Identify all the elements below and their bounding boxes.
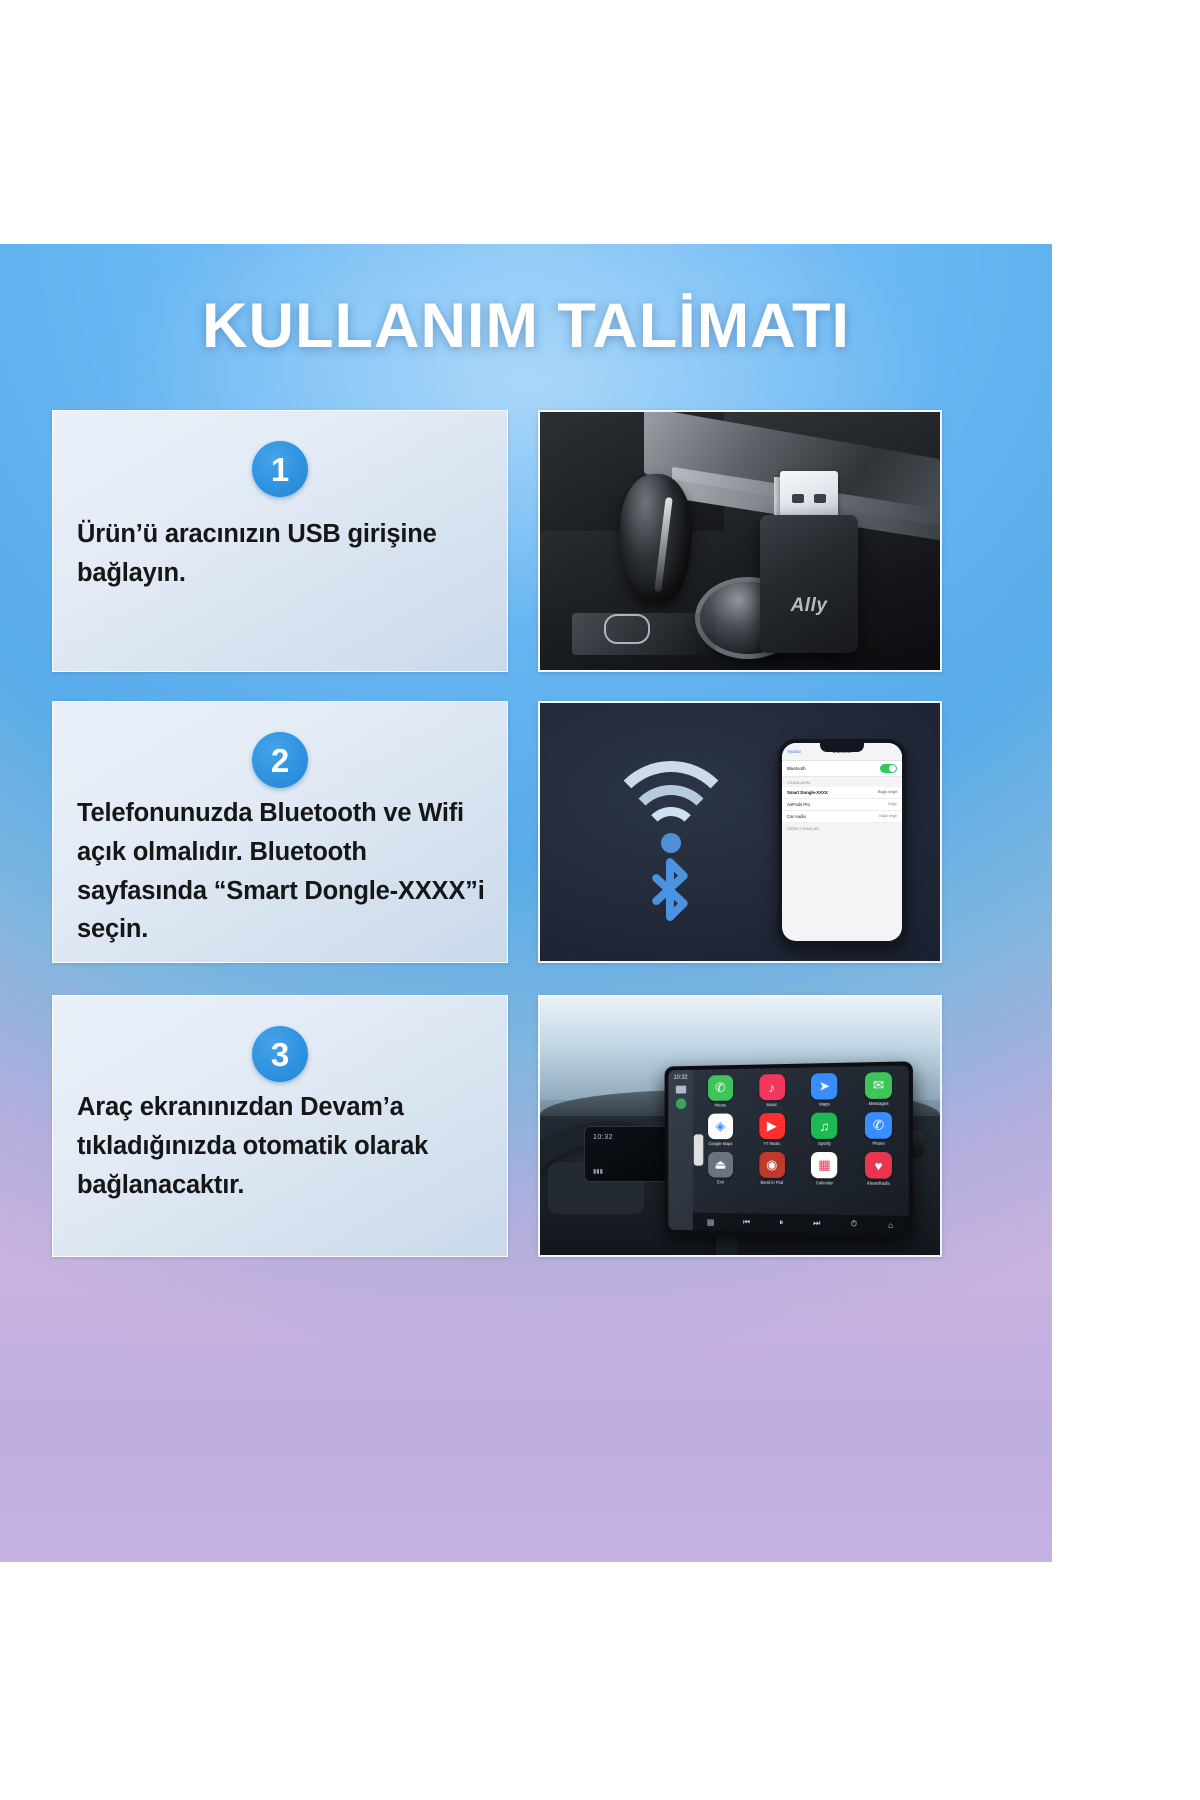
step-text-1: Ürün’ü aracınızın USB girişine bağlayın.	[77, 515, 489, 593]
dock-previous-icon[interactable]: ⏮	[743, 1217, 750, 1227]
device-status: Bağlı değil	[879, 814, 897, 819]
app-label: Google Maps	[708, 1141, 732, 1146]
maps-app-icon: ➤	[811, 1073, 837, 1100]
page-title: KULLANIM TALİMATI	[0, 290, 1052, 362]
carplay-app[interactable]: ✆ Phone	[699, 1075, 743, 1108]
carplay-row-3: ⏏ Exit ◉ Band-in Pod ▦ Calendar	[699, 1152, 903, 1186]
carplay-app[interactable]: ◈ Google Maps	[699, 1113, 743, 1146]
device-list-item[interactable]: Car Audio Bağlı değil	[782, 811, 902, 823]
phone-back-label: Ayarlar	[787, 749, 801, 754]
iheartradio-app-icon: ♥	[865, 1152, 892, 1179]
app-label: Band-in Pod	[760, 1180, 783, 1185]
dock-pause-icon[interactable]: ⏸	[779, 1218, 783, 1228]
dock-timer-icon[interactable]: ⏱	[851, 1219, 857, 1229]
phone-screen: Ayarlar Bluetooth Bluetooth CİHAZLARIM S…	[782, 743, 902, 941]
dongle-brand-label: Ally	[791, 595, 828, 617]
carplay-home-icon[interactable]	[675, 1098, 685, 1109]
spotify-app-icon: ♫	[811, 1113, 837, 1139]
messages-app-icon: ✉	[865, 1072, 892, 1099]
carplay-app[interactable]: ♥ iHeartRadio	[855, 1152, 903, 1186]
step-number-badge-1: 1	[252, 441, 308, 497]
device-status: Bağlı	[888, 802, 897, 807]
my-devices-label: CİHAZLARIM	[782, 777, 902, 787]
dock-list-icon[interactable]: ▤	[707, 1217, 714, 1226]
bluetooth-toggle-row[interactable]: Bluetooth	[782, 761, 902, 777]
step-number-badge-2: 2	[252, 732, 308, 788]
cluster-info: ▮▮▮	[593, 1168, 603, 1175]
parking-button-icon	[604, 614, 650, 644]
carplay-app[interactable]: ♫ Spotify	[801, 1113, 847, 1147]
carplay-sidebar: 10:32	[668, 1070, 692, 1230]
device-name: Smart Dongle-XXXX	[787, 790, 828, 795]
step-number-badge-3: 3	[252, 1026, 308, 1082]
carplay-back-arrow[interactable]	[694, 1134, 704, 1165]
other-devices-label: DİĞER CİHAZLAR	[782, 823, 902, 833]
calendar-app-icon: ▦	[811, 1152, 837, 1178]
carplay-display: 10:32 ✆ Phone ♪	[668, 1066, 908, 1235]
app-label: YT Music	[763, 1141, 780, 1146]
bluetooth-icon	[628, 853, 712, 949]
ally-dongle: Ally	[760, 515, 858, 653]
app-label: Phone	[872, 1141, 885, 1146]
app-label: Phone	[715, 1103, 727, 1108]
dock-home-icon[interactable]: ⌂	[888, 1220, 893, 1229]
carplay-app[interactable]: ✉ Messages	[855, 1072, 903, 1106]
podcast-app-icon: ◉	[759, 1152, 785, 1178]
phone-notch	[820, 743, 864, 752]
phone-alt-app-icon: ✆	[865, 1112, 892, 1139]
app-label: Maps	[819, 1102, 829, 1107]
phone-app-icon: ✆	[708, 1075, 733, 1101]
carplay-row-2: ◈ Google Maps ▶ YT Music ♫ Spotify	[699, 1112, 903, 1146]
bluetooth-toggle-switch[interactable]	[880, 764, 897, 773]
dock-next-icon[interactable]: ⏭	[813, 1219, 820, 1229]
phone-wifi-bluetooth-photo: Ayarlar Bluetooth Bluetooth CİHAZLARIM S…	[538, 701, 942, 963]
car-console-usb-dongle-photo: Ally	[538, 410, 942, 672]
music-app-icon: ♪	[759, 1074, 785, 1100]
exit-app-icon: ⏏	[708, 1152, 733, 1178]
app-label: Spotify	[818, 1141, 831, 1146]
app-label: Music	[766, 1102, 777, 1107]
device-list-item[interactable]: Smart Dongle-XXXX Bağlı değil	[782, 787, 902, 799]
carplay-dashboard-photo: 10:32 ▮▮▮ 10:32 ✆	[538, 995, 942, 1257]
carplay-app[interactable]: ➤ Maps	[801, 1073, 847, 1107]
carplay-app[interactable]: ⏏ Exit	[699, 1152, 743, 1185]
app-label: Calendar	[816, 1180, 833, 1185]
gear-shifter	[620, 474, 692, 602]
device-name: Car Audio	[787, 814, 806, 819]
wifi-icon	[612, 761, 730, 853]
carplay-dock: ▤ ⏮ ⏸ ⏭ ⏱ ⌂	[693, 1213, 909, 1235]
carplay-time: 10:32	[673, 1075, 687, 1081]
yt-music-app-icon: ▶	[759, 1113, 785, 1139]
step-text-2: Telefonunuzda Bluetooth ve Wifi açık olm…	[77, 794, 489, 949]
bluetooth-toggle-label: Bluetooth	[787, 766, 806, 771]
device-list-item[interactable]: AirPods Pro Bağlı	[782, 799, 902, 811]
google-maps-app-icon: ◈	[708, 1114, 733, 1140]
step-card-2: 2 Telefonunuzda Bluetooth ve Wifi açık o…	[52, 701, 508, 963]
signal-icon	[675, 1086, 685, 1094]
carplay-app[interactable]: ♪ Music	[749, 1074, 794, 1108]
device-name: AirPods Pro	[787, 802, 810, 807]
cluster-time: 10:32	[593, 1134, 613, 1141]
gradient-panel: KULLANIM TALİMATI 1 Ürün’ü aracınızın US…	[0, 244, 1052, 1562]
step-card-3: 3 Araç ekranınızdan Devam’a tıkladığınız…	[52, 995, 508, 1257]
carplay-app[interactable]: ✆ Phone	[855, 1112, 903, 1146]
step-card-1: 1 Ürün’ü aracınızın USB girişine bağlayı…	[52, 410, 508, 672]
carplay-app[interactable]: ▦ Calendar	[801, 1152, 847, 1186]
app-label: iHeartRadio	[867, 1181, 890, 1186]
carplay-row-1: ✆ Phone ♪ Music ➤ Maps	[699, 1072, 903, 1108]
carplay-screen: 10:32 ✆ Phone ♪	[665, 1061, 913, 1238]
device-status: Bağlı değil	[878, 790, 897, 795]
carplay-app[interactable]: ◉ Band-in Pod	[749, 1152, 794, 1185]
instruction-poster: KULLANIM TALİMATI 1 Ürün’ü aracınızın US…	[0, 0, 1200, 1800]
phone-mockup: Ayarlar Bluetooth Bluetooth CİHAZLARIM S…	[778, 739, 906, 945]
carplay-app-grid: ✆ Phone ♪ Music ➤ Maps	[693, 1066, 909, 1235]
app-label: Exit	[717, 1180, 724, 1185]
step-text-3: Araç ekranınızdan Devam’a tıkladığınızda…	[77, 1088, 489, 1204]
carplay-app[interactable]: ▶ YT Music	[749, 1113, 794, 1146]
app-label: Messages	[869, 1101, 889, 1106]
